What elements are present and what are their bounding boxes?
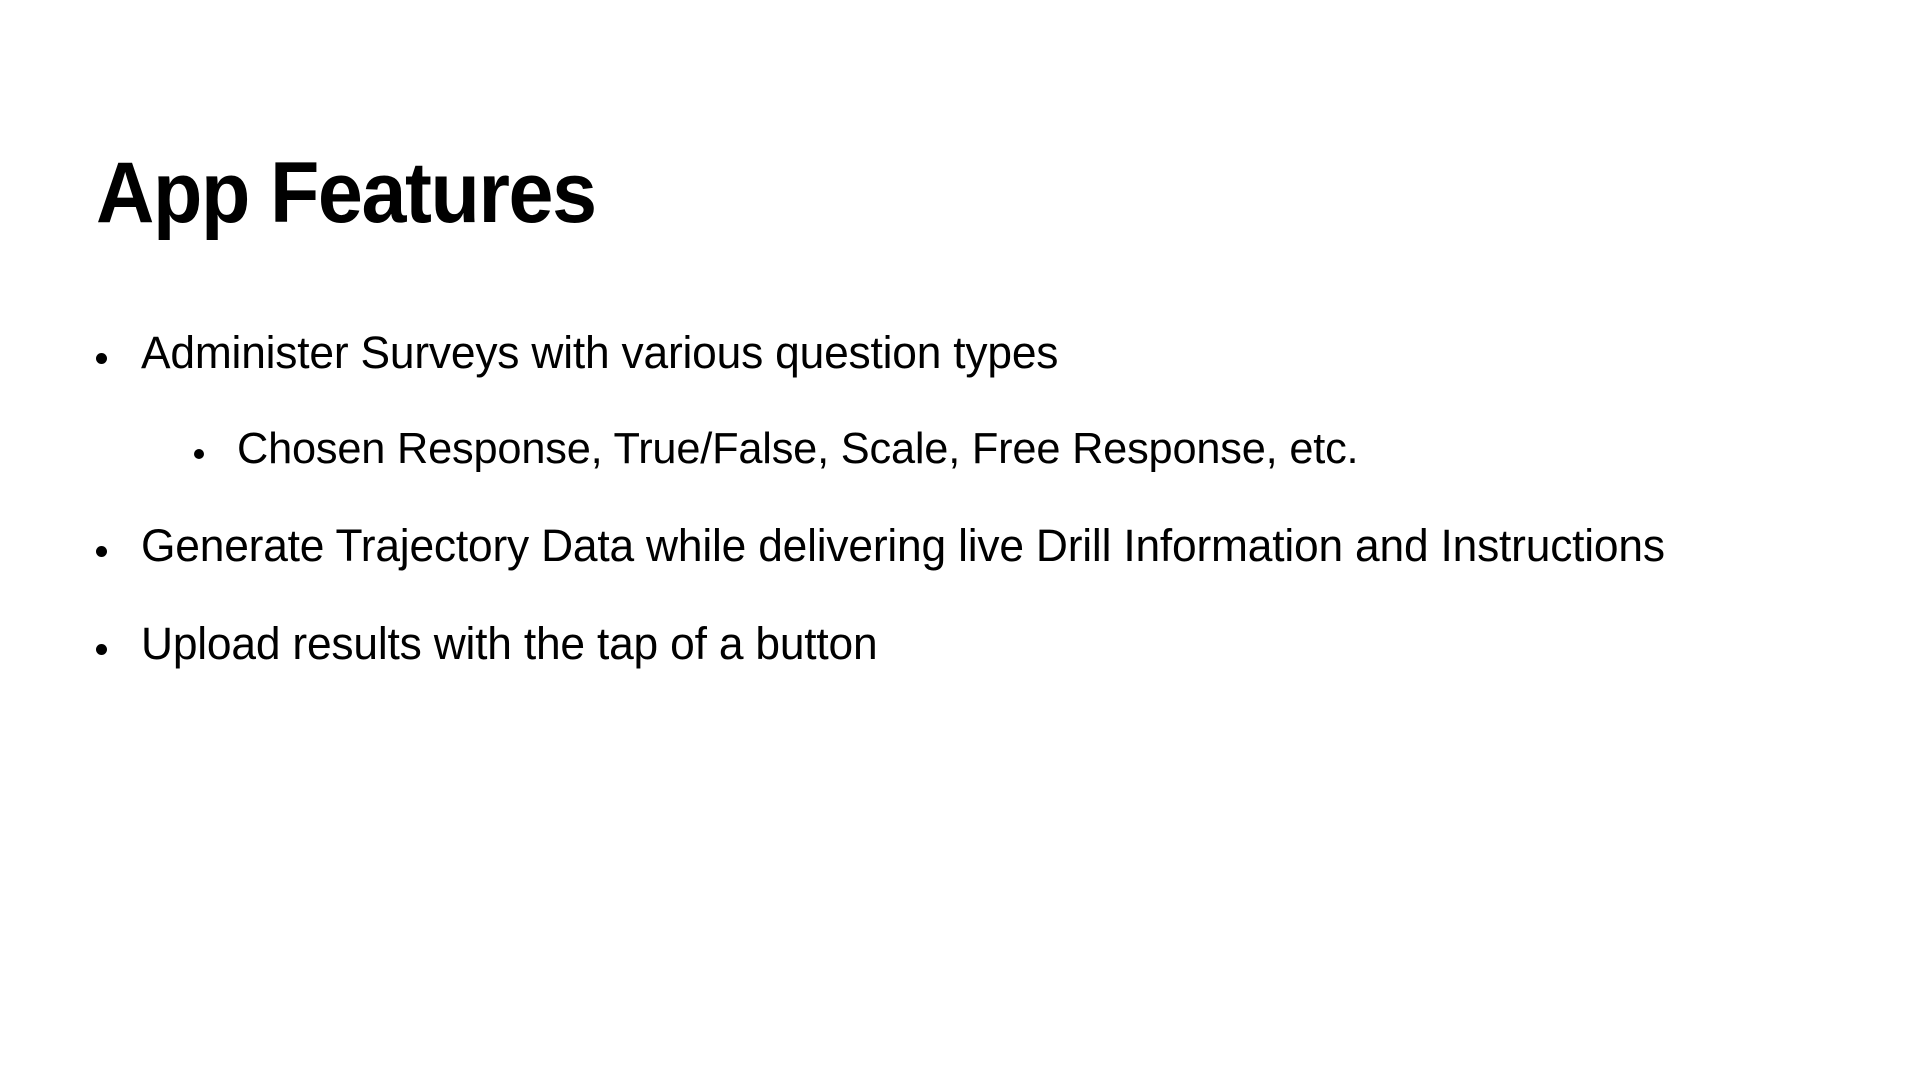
spacer xyxy=(96,471,1886,523)
list-item: Generate Trajectory Data while deliverin… xyxy=(96,523,1886,568)
bullet-dot-icon xyxy=(96,353,107,364)
bullet-dot-icon xyxy=(194,449,204,459)
bullet-list: Administer Surveys with various question… xyxy=(96,330,1886,666)
list-item-label: Administer Surveys with various question… xyxy=(141,330,1058,375)
list-item: Chosen Response, True/False, Scale, Free… xyxy=(96,427,1886,471)
slide-canvas: App Features Administer Surveys with var… xyxy=(0,0,1920,1080)
list-item-label: Generate Trajectory Data while deliverin… xyxy=(141,523,1665,568)
list-item: Administer Surveys with various question… xyxy=(96,330,1886,375)
list-item-label: Upload results with the tap of a button xyxy=(141,621,877,666)
list-item-label: Chosen Response, True/False, Scale, Free… xyxy=(237,427,1358,471)
spacer xyxy=(96,375,1886,427)
spacer xyxy=(96,568,1886,621)
page-title: App Features xyxy=(96,150,596,236)
list-item: Upload results with the tap of a button xyxy=(96,621,1886,666)
bullet-dot-icon xyxy=(96,644,107,655)
bullet-dot-icon xyxy=(96,546,107,557)
